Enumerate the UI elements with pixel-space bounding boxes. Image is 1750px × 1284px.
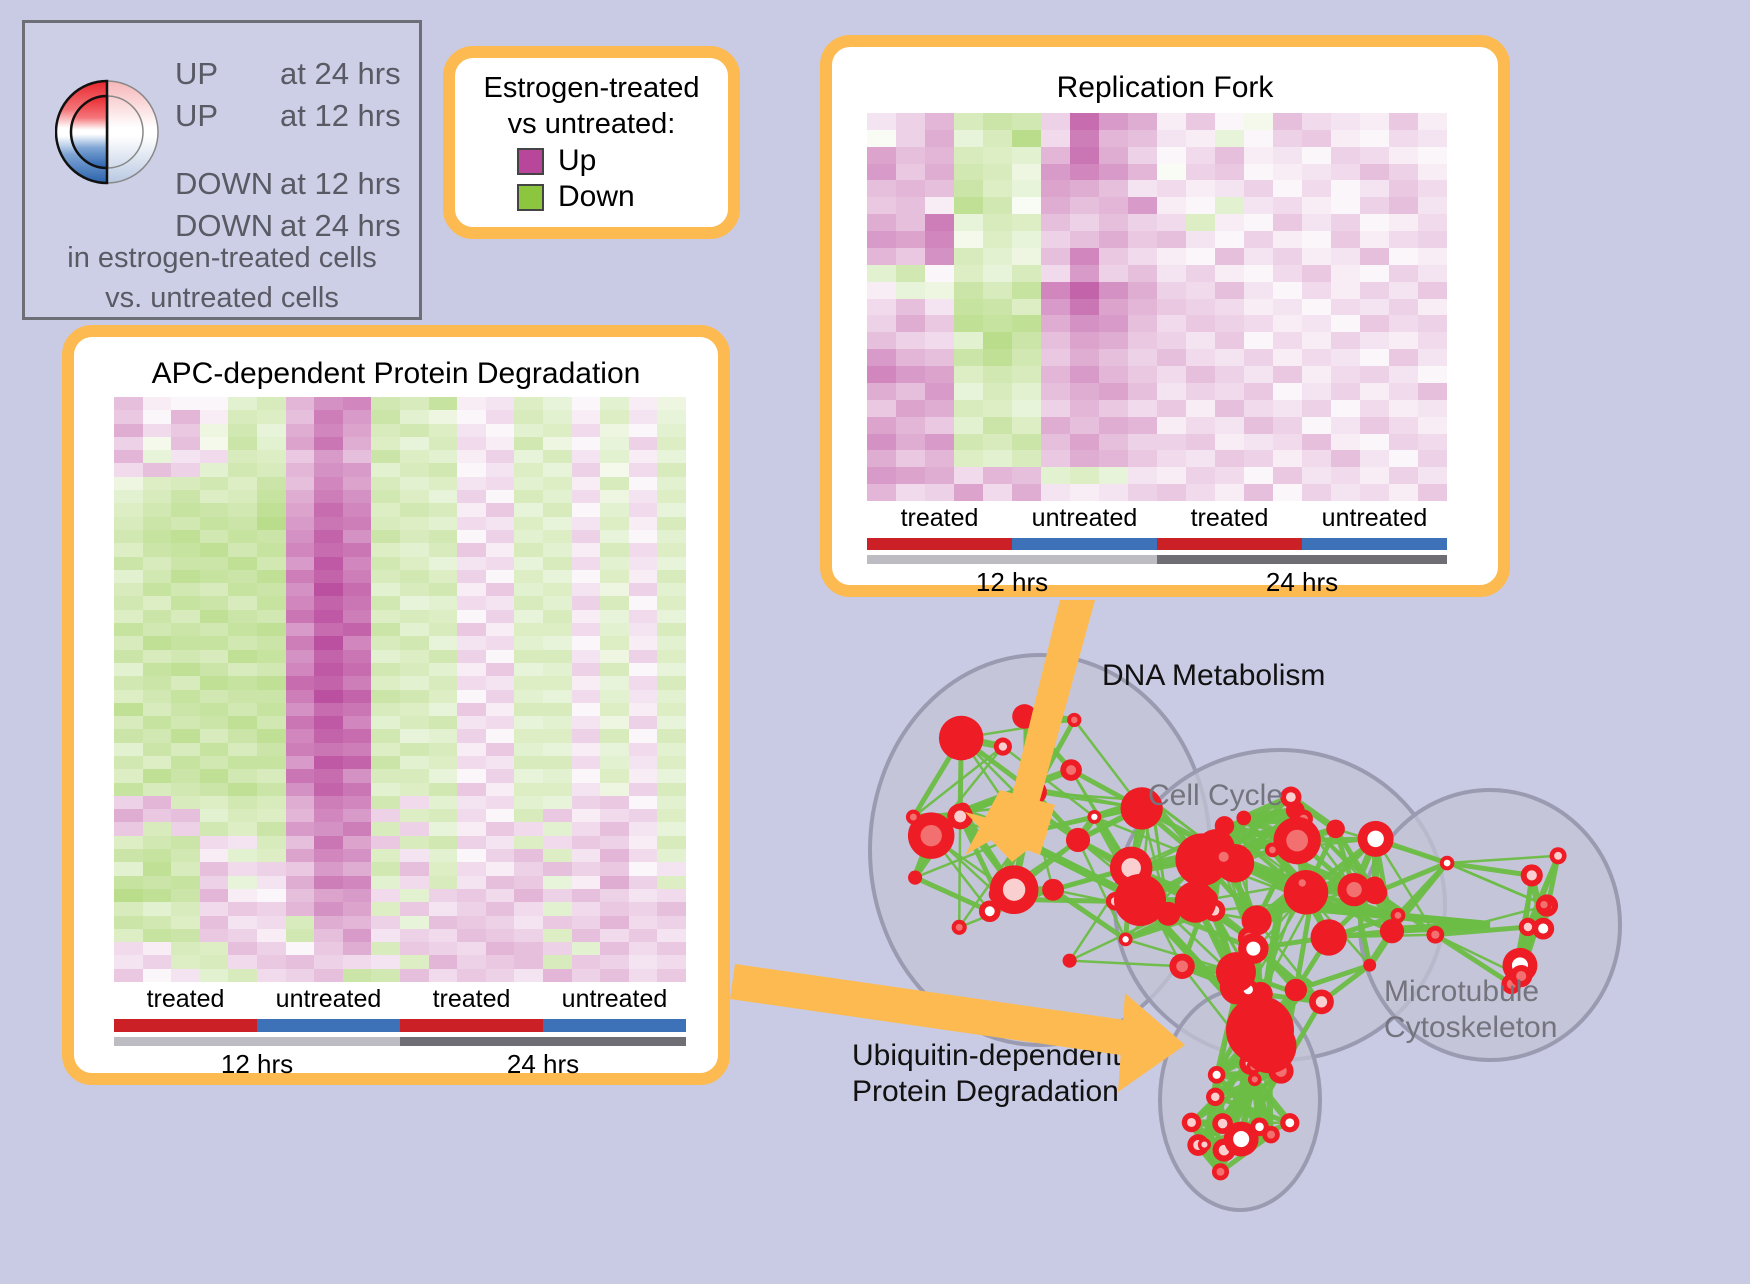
heatmap-cell [954, 484, 983, 501]
network-node[interactable] [1363, 959, 1376, 972]
heatmap-cell [200, 969, 229, 982]
heatmap-cell [429, 397, 458, 410]
heatmap-cell [1360, 164, 1389, 181]
network-node[interactable] [1060, 759, 1082, 781]
network-node[interactable] [1380, 919, 1404, 943]
network-node[interactable] [1212, 1163, 1229, 1180]
heatmap-cell [343, 836, 372, 849]
heatmap-cell [143, 929, 172, 942]
network-node[interactable] [1182, 1113, 1202, 1133]
heatmap-cell [1099, 130, 1128, 147]
heatmap-cell [200, 822, 229, 835]
heatmap-cell [371, 596, 400, 609]
network-node[interactable] [1426, 926, 1444, 944]
heatmap-cell [543, 916, 572, 929]
network-node[interactable] [1238, 933, 1269, 964]
heatmap-cell [400, 809, 429, 822]
heatmap-cell [1012, 434, 1041, 451]
heatmap-cell [1244, 282, 1273, 299]
heatmap-cell [486, 410, 515, 423]
heatmap-cell [896, 332, 925, 349]
network-node[interactable] [1250, 1117, 1269, 1136]
heatmap-cell [257, 876, 286, 889]
heatmap-cell [257, 397, 286, 410]
heatmap-cell [1215, 282, 1244, 299]
condition-label: untreated [543, 985, 686, 1017]
heatmap-cell [429, 463, 458, 476]
network-label-ubiquitin: Ubiquitin-dependent Protein Degradation [852, 1038, 1121, 1110]
network-node[interactable] [1175, 881, 1217, 923]
color-key-footer: in estrogen-treated cells vs. untreated … [25, 238, 419, 318]
heatmap-cell [925, 450, 954, 467]
heatmap-cell [486, 902, 515, 915]
heatmap-cell [514, 583, 543, 596]
heatmap-cell [657, 809, 686, 822]
heatmap-cell [371, 703, 400, 716]
heatmap-cell [1389, 450, 1418, 467]
heatmap-cell [371, 424, 400, 437]
heatmap-cell [1331, 484, 1360, 501]
heatmap-cell [200, 477, 229, 490]
heatmap-cell [925, 434, 954, 451]
network-node[interactable] [1440, 856, 1455, 871]
network-node[interactable] [1265, 842, 1280, 857]
heatmap-cell [200, 729, 229, 742]
heatmap-cell [486, 623, 515, 636]
heatmap-cell [314, 716, 343, 729]
heatmap-cell [400, 650, 429, 663]
heatmap-cell [954, 467, 983, 484]
network-node[interactable] [1550, 847, 1567, 864]
network-node[interactable] [1311, 919, 1347, 955]
network-node[interactable] [1532, 918, 1554, 940]
time-bar [114, 1037, 400, 1046]
heatmap-cell [171, 463, 200, 476]
heatmap-cell [925, 282, 954, 299]
heatmap-cell [228, 663, 257, 676]
heatmap-cell [1012, 248, 1041, 265]
heatmap-cell [343, 769, 372, 782]
heatmap-cell [286, 849, 315, 862]
heatmap-cell [171, 583, 200, 596]
network-node[interactable] [1309, 989, 1334, 1014]
heatmap-cell [429, 743, 458, 756]
heatmap-cell [171, 769, 200, 782]
heatmap-cell [514, 503, 543, 516]
heatmap-cell [1215, 400, 1244, 417]
heatmap-cell [1128, 164, 1157, 181]
heatmap-cell [114, 889, 143, 902]
heatmap-cell [228, 596, 257, 609]
heatmap-cell [257, 623, 286, 636]
heatmap-cell [543, 836, 572, 849]
heatmap-cell [371, 410, 400, 423]
heatmap-cell [200, 676, 229, 689]
heatmap-cell [457, 636, 486, 649]
heatmap-cell [343, 583, 372, 596]
heatmap-cell [286, 676, 315, 689]
heatmap-cell [896, 349, 925, 366]
heatmap-cell [228, 862, 257, 875]
heatmap-cell [314, 477, 343, 490]
network-node[interactable] [1358, 821, 1394, 857]
heatmap-cell [429, 916, 458, 929]
heatmap-cell [572, 902, 601, 915]
heatmap-cell [1331, 332, 1360, 349]
network-node[interactable] [1206, 1088, 1225, 1107]
heatmap-cell [457, 623, 486, 636]
heatmap-cell [457, 676, 486, 689]
heatmap-cell [457, 942, 486, 955]
heatmap-cell [314, 942, 343, 955]
heatmap-cell [1041, 349, 1070, 366]
heatmap-cell [371, 623, 400, 636]
heatmap-cell [1099, 265, 1128, 282]
heatmap-cell [286, 650, 315, 663]
heatmap-cell [143, 437, 172, 450]
heatmap-cell [629, 849, 658, 862]
heatmap-cell [171, 703, 200, 716]
network-node[interactable] [906, 810, 921, 825]
heatmap-cell [171, 636, 200, 649]
heatmap-cell [867, 332, 896, 349]
heatmap-cell [1041, 417, 1070, 434]
heatmap-cell [143, 955, 172, 968]
heatmap-cell [1418, 484, 1447, 501]
heatmap-cell [114, 623, 143, 636]
heatmap-cell [925, 214, 954, 231]
heatmap-cell [954, 315, 983, 332]
heatmap-cell [1070, 315, 1099, 332]
heatmap-cell [1244, 147, 1273, 164]
heatmap-cell [314, 663, 343, 676]
network-node[interactable] [1012, 704, 1037, 729]
network-node[interactable] [947, 803, 973, 829]
heatmap-cell [629, 517, 658, 530]
heatmap-cell [486, 583, 515, 596]
heatmap-cell [200, 703, 229, 716]
heatmap-cell [228, 557, 257, 570]
heatmap-cell [200, 517, 229, 530]
heatmap-cell [457, 756, 486, 769]
heatmap-cell [629, 424, 658, 437]
heatmap-cell [457, 783, 486, 796]
network-node[interactable] [1226, 996, 1294, 1064]
heatmap-cell [867, 417, 896, 434]
heatmap-cell [314, 517, 343, 530]
condition-label: untreated [257, 985, 400, 1017]
heatmap-cell [629, 809, 658, 822]
heatmap-cell [572, 410, 601, 423]
apc-panel: APC-dependent Protein Degradation treate… [62, 325, 730, 1085]
heatmap-cell [457, 543, 486, 556]
heatmap-cell [629, 596, 658, 609]
heatmap-cell [429, 942, 458, 955]
network-node[interactable] [1013, 820, 1038, 845]
heatmap-cell [171, 477, 200, 490]
network-node[interactable] [1299, 889, 1324, 914]
heatmap-cell [1244, 265, 1273, 282]
heatmap-cell [543, 530, 572, 543]
heatmap-cell [143, 729, 172, 742]
network-node[interactable] [1280, 1113, 1299, 1132]
heatmap-cell [114, 437, 143, 450]
heatmap-cell [114, 477, 143, 490]
apc-condition-labels: treateduntreatedtreateduntreated [114, 985, 686, 1017]
heatmap-cell [1273, 282, 1302, 299]
heatmap-cell [314, 969, 343, 982]
heatmap-cell [429, 636, 458, 649]
network-node[interactable] [1066, 828, 1090, 852]
heatmap-cell [657, 477, 686, 490]
heatmap-cell [629, 796, 658, 809]
heatmap-cell [629, 397, 658, 410]
heatmap-cell [343, 623, 372, 636]
network-node[interactable] [1208, 1066, 1226, 1084]
heatmap-cell [600, 543, 629, 556]
heatmap-cell [1128, 417, 1157, 434]
heatmap-cell [457, 796, 486, 809]
heatmap-cell [657, 650, 686, 663]
time-bar [1157, 555, 1447, 564]
heatmap-cell [543, 902, 572, 915]
heatmap-cell [514, 636, 543, 649]
network-node[interactable] [1536, 897, 1552, 913]
network-node[interactable] [952, 920, 967, 935]
heatmap-cell [429, 410, 458, 423]
heatmap-cell [954, 197, 983, 214]
network-node[interactable] [1114, 874, 1166, 926]
network-node[interactable] [1215, 816, 1234, 835]
heatmap-cell [572, 490, 601, 503]
network-node[interactable] [1198, 1138, 1211, 1151]
heatmap-cell [543, 437, 572, 450]
heatmap-cell [228, 703, 257, 716]
network-node[interactable] [1067, 713, 1081, 727]
heatmap-cell [1012, 113, 1041, 130]
heatmap-cell [629, 663, 658, 676]
network-node[interactable] [1273, 817, 1320, 864]
heatmap-cell [1186, 265, 1215, 282]
heatmap-cell [200, 397, 229, 410]
heatmap-cell [543, 703, 572, 716]
network-node[interactable] [1063, 954, 1077, 968]
legend-heading-line1: Estrogen-treated [465, 70, 718, 106]
heatmap-cell [983, 130, 1012, 147]
heatmap-cell [1128, 248, 1157, 265]
heatmap-cell [514, 490, 543, 503]
heatmap-cell [543, 716, 572, 729]
heatmap-cell [1389, 484, 1418, 501]
heatmap-cell [429, 583, 458, 596]
network-node[interactable] [1119, 932, 1133, 946]
heatmap-cell [657, 783, 686, 796]
heatmap-cell [400, 543, 429, 556]
heatmap-cell [400, 756, 429, 769]
heatmap-cell [486, 862, 515, 875]
heatmap-cell [600, 517, 629, 530]
network-node[interactable] [1248, 1073, 1262, 1087]
heatmap-cell [1331, 197, 1360, 214]
heatmap-cell [114, 862, 143, 875]
heatmap-cell [1244, 164, 1273, 181]
heatmap-cell [514, 836, 543, 849]
heatmap-cell [257, 690, 286, 703]
heatmap-cell [1418, 417, 1447, 434]
heatmap-cell [1070, 450, 1099, 467]
heatmap-cell [1418, 315, 1447, 332]
heatmap-cell [143, 916, 172, 929]
heatmap-cell [572, 849, 601, 862]
heatmap-cell [514, 517, 543, 530]
heatmap-cell [200, 490, 229, 503]
network-node[interactable] [1521, 864, 1543, 886]
network-node[interactable] [990, 865, 1039, 914]
heatmap-cell [257, 743, 286, 756]
network-diagram: DNA Metabolism Cell Cycle Microtubule Cy… [790, 600, 1750, 1279]
heatmap-cell [629, 969, 658, 982]
network-node[interactable] [1364, 881, 1388, 905]
heatmap-cell [143, 836, 172, 849]
network-node[interactable] [994, 738, 1012, 756]
heatmap-cell [600, 410, 629, 423]
heatmap-cell [429, 690, 458, 703]
heatmap-cell [572, 743, 601, 756]
heatmap-cell [486, 916, 515, 929]
heatmap-cell [257, 463, 286, 476]
heatmap-cell [486, 636, 515, 649]
heatmap-cell [1331, 467, 1360, 484]
heatmap-cell [286, 543, 315, 556]
heatmap-cell [400, 490, 429, 503]
heatmap-cell [343, 610, 372, 623]
heatmap-cell [514, 410, 543, 423]
heatmap-cell [429, 530, 458, 543]
heatmap-cell [228, 490, 257, 503]
heatmap-cell [543, 796, 572, 809]
heatmap-cell [1215, 299, 1244, 316]
heatmap-cell [257, 849, 286, 862]
network-node[interactable] [1280, 787, 1301, 808]
heatmap-cell [228, 729, 257, 742]
heatmap-cell [629, 650, 658, 663]
heatmap-cell [1099, 113, 1128, 130]
heatmap-cell [572, 876, 601, 889]
heatmap-cell [114, 969, 143, 982]
network-node[interactable] [908, 871, 922, 885]
heatmap-cell [286, 969, 315, 982]
heatmap-cell [1215, 164, 1244, 181]
heatmap-cell [1186, 315, 1215, 332]
heatmap-cell [1389, 164, 1418, 181]
down-swatch-icon [517, 184, 544, 211]
heatmap-cell [600, 929, 629, 942]
heatmap-cell [543, 729, 572, 742]
heatmap-cell [572, 477, 601, 490]
heatmap-cell [629, 450, 658, 463]
heatmap-cell [896, 197, 925, 214]
network-node[interactable] [1213, 846, 1235, 868]
heatmap-cell [257, 424, 286, 437]
heatmap-cell [1244, 467, 1273, 484]
heatmap-cell [400, 769, 429, 782]
heatmap-cell [486, 397, 515, 410]
heatmap-cell [1215, 417, 1244, 434]
heatmap-cell [143, 610, 172, 623]
heatmap-cell [572, 557, 601, 570]
heatmap-cell [114, 876, 143, 889]
heatmap-cell [1186, 113, 1215, 130]
heatmap-cell [1128, 434, 1157, 451]
heatmap-cell [286, 623, 315, 636]
heatmap-cell [457, 517, 486, 530]
heatmap-cell [572, 610, 601, 623]
heatmap-cell [228, 809, 257, 822]
heatmap-cell [1302, 383, 1331, 400]
network-node[interactable] [1285, 979, 1307, 1001]
heatmap-cell [1389, 180, 1418, 197]
heatmap-cell [1041, 315, 1070, 332]
heatmap-cell [228, 676, 257, 689]
heatmap-cell [114, 716, 143, 729]
heatmap-cell [867, 180, 896, 197]
network-node[interactable] [1326, 820, 1345, 839]
heatmap-cell [228, 517, 257, 530]
network-node[interactable] [1042, 879, 1064, 901]
heatmap-cell [657, 437, 686, 450]
heatmap-cell [457, 849, 486, 862]
network-node[interactable] [1294, 875, 1310, 891]
heatmap-cell [983, 113, 1012, 130]
heatmap-cell [572, 716, 601, 729]
heatmap-cell [257, 410, 286, 423]
heatmap-cell [1273, 366, 1302, 383]
heatmap-cell [1186, 282, 1215, 299]
heatmap-cell [314, 849, 343, 862]
heatmap-cell [629, 889, 658, 902]
heatmap-cell [1331, 315, 1360, 332]
heatmap-cell [200, 437, 229, 450]
heatmap-cell [1012, 299, 1041, 316]
heatmap-cell [1099, 147, 1128, 164]
heatmap-cell [343, 942, 372, 955]
network-node[interactable] [939, 716, 984, 761]
heatmap-cell [1273, 180, 1302, 197]
heatmap-cell [200, 929, 229, 942]
time-bar [867, 555, 1157, 564]
heatmap-cell [200, 570, 229, 583]
network-node[interactable] [1169, 954, 1194, 979]
network-node[interactable] [1022, 800, 1034, 812]
heatmap-cell [314, 557, 343, 570]
heatmap-cell [343, 929, 372, 942]
heatmap-cell [867, 366, 896, 383]
heatmap-cell [343, 716, 372, 729]
heatmap-cell [657, 929, 686, 942]
network-node[interactable] [1087, 810, 1101, 824]
heatmap-cell [983, 434, 1012, 451]
network-node[interactable] [1391, 908, 1406, 923]
heatmap-cell [543, 410, 572, 423]
heatmap-cell [143, 557, 172, 570]
heatmap-cell [896, 417, 925, 434]
heatmap-cell [1302, 450, 1331, 467]
heatmap-cell [171, 450, 200, 463]
heatmap-cell [114, 410, 143, 423]
heatmap-cell [314, 503, 343, 516]
heatmap-cell [200, 876, 229, 889]
heatmap-cell [400, 916, 429, 929]
